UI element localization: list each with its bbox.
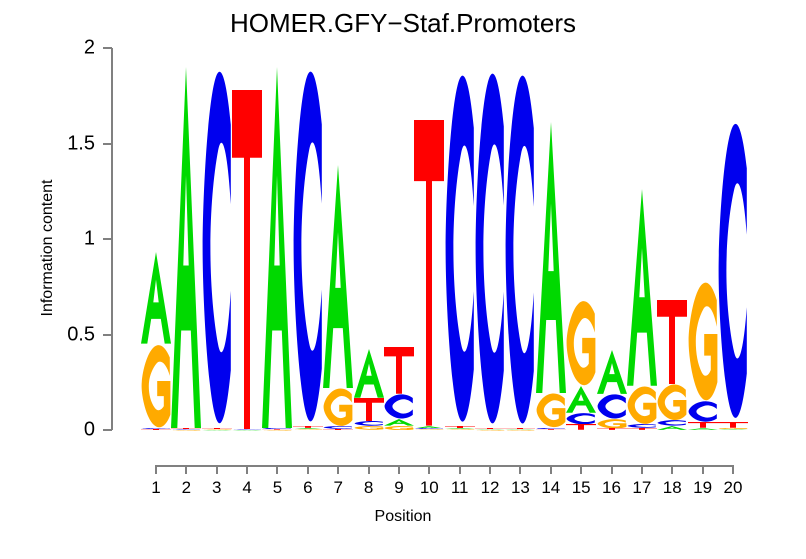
logo-letter-A: [505, 429, 535, 430]
logo-letter-T: [414, 120, 444, 426]
logo-letter-G: [536, 393, 566, 427]
x-tick-mark: [216, 465, 218, 474]
logo-letter-T: [536, 429, 566, 430]
logo-letter-G: [597, 419, 627, 429]
page-title: HOMER.GFY−Staf.Promoters: [0, 8, 806, 39]
logo-column: [414, 48, 444, 430]
y-tick-mark: [103, 429, 112, 431]
x-tick-mark: [428, 465, 430, 474]
logo-letter-T: [475, 428, 505, 429]
logo-letter-C: [505, 71, 535, 428]
y-tick-mark: [103, 238, 112, 240]
logo-letter-A: [597, 350, 627, 394]
y-tick-mark: [103, 334, 112, 336]
logo-letter-G: [627, 386, 657, 424]
logo-column: [475, 48, 505, 430]
logo-letter-A: [384, 419, 414, 426]
logo-letter-G: [566, 300, 596, 386]
x-tick-mark: [337, 465, 339, 474]
logo-letter-A: [688, 428, 718, 430]
logo-letter-C: [354, 421, 384, 426]
logo-letter-T: [323, 429, 353, 430]
logo-letter-A: [141, 252, 171, 344]
y-tick-label: 2: [35, 37, 95, 60]
logo-letter-A: [232, 430, 262, 431]
logo-letter-A: [445, 428, 475, 429]
logo-letter-A: [323, 165, 353, 388]
logo-letter-C: [323, 426, 353, 429]
x-axis-title: Position: [0, 508, 806, 526]
logo-letter-G: [293, 429, 323, 430]
logo-letter-C: [597, 394, 627, 419]
logo-letter-A: [536, 122, 566, 393]
logo-letter-G: [657, 384, 687, 420]
logo-column: [384, 48, 414, 430]
x-tick-mark: [519, 465, 521, 474]
logo-letter-T: [566, 424, 596, 430]
logo-letter-G: [354, 426, 384, 430]
logo-letter-T: [384, 347, 414, 394]
logo-letter-G: [688, 281, 718, 401]
y-tick-mark: [103, 47, 112, 49]
logo-letter-G: [718, 428, 748, 430]
y-axis-title: Information content: [39, 118, 57, 378]
logo-letter-A: [171, 67, 201, 428]
x-tick-mark: [307, 465, 309, 474]
y-tick-mark: [103, 143, 112, 145]
logo-column: [657, 48, 687, 430]
logo-column: [688, 48, 718, 430]
y-tick-label: 0: [35, 419, 95, 442]
logo-letter-A: [414, 426, 444, 428]
logo-letter-C: [202, 67, 232, 428]
logo-letter-C: [688, 401, 718, 422]
logo-letter-C: [718, 120, 748, 422]
x-tick-mark: [185, 465, 187, 474]
logo-column: [597, 48, 627, 430]
logo-column: [718, 48, 748, 430]
logo-letter-C: [414, 428, 444, 429]
logo-column: [354, 48, 384, 430]
x-tick-mark: [276, 465, 278, 474]
logo-letter-G: [141, 344, 171, 428]
x-tick-mark: [398, 465, 400, 474]
logo-letter-C: [232, 429, 262, 430]
logo-letter-T: [354, 398, 384, 422]
logo-letter-C: [262, 428, 292, 429]
logo-letter-A: [354, 349, 384, 398]
logo-stack-area: [0, 0, 806, 559]
logo-letter-A: [718, 429, 748, 430]
x-tick-mark: [368, 465, 370, 474]
x-tick-mark: [246, 465, 248, 474]
logo-column: [323, 48, 353, 430]
logo-letter-G: [384, 426, 414, 430]
logo-column: [171, 48, 201, 430]
sequence-logo-plot: HOMER.GFY−Staf.Promoters 00.511.52 Infor…: [0, 0, 806, 559]
logo-letter-G: [414, 429, 444, 430]
logo-letter-C: [171, 429, 201, 430]
logo-letter-C: [445, 71, 475, 426]
logo-letter-T: [202, 428, 232, 429]
logo-letter-C: [141, 428, 171, 429]
x-tick-mark: [611, 465, 613, 474]
x-tick-mark: [732, 465, 734, 474]
logo-letter-G: [202, 429, 232, 430]
logo-column: [202, 48, 232, 430]
logo-letter-T: [505, 428, 535, 429]
logo-letter-G: [445, 429, 475, 430]
logo-letter-C: [627, 424, 657, 428]
logo-column: [566, 48, 596, 430]
logo-letter-G: [171, 430, 201, 431]
logo-column: [627, 48, 657, 430]
logo-letter-T: [171, 428, 201, 429]
logo-column: [445, 48, 475, 430]
logo-letter-T: [293, 426, 323, 428]
logo-letter-T: [627, 428, 657, 430]
logo-letter-C: [536, 428, 566, 430]
logo-letter-G: [262, 430, 292, 431]
x-tick-label: 20: [713, 478, 753, 498]
logo-letter-T: [262, 429, 292, 430]
logo-letter-C: [293, 67, 323, 426]
logo-letter-G: [475, 430, 505, 431]
x-tick-mark: [580, 465, 582, 474]
logo-column: [536, 48, 566, 430]
x-tick-mark: [550, 465, 552, 474]
logo-letter-C: [657, 420, 687, 426]
logo-letter-G: [505, 430, 535, 431]
logo-letter-T: [657, 300, 687, 384]
logo-letter-A: [657, 426, 687, 430]
logo-letter-A: [262, 67, 292, 428]
x-tick-mark: [459, 465, 461, 474]
x-tick-mark: [489, 465, 491, 474]
logo-letter-T: [141, 429, 171, 430]
logo-letter-T: [232, 90, 262, 429]
x-tick-mark: [641, 465, 643, 474]
logo-letter-A: [202, 430, 232, 431]
x-axis-line: [156, 465, 734, 467]
logo-column: [262, 48, 292, 430]
logo-column: [293, 48, 323, 430]
logo-column: [232, 48, 262, 430]
logo-column: [141, 48, 171, 430]
logo-letter-A: [566, 386, 596, 413]
x-tick-mark: [671, 465, 673, 474]
logo-letter-C: [384, 394, 414, 419]
logo-column: [505, 48, 535, 430]
logo-letter-A: [475, 429, 505, 430]
logo-letter-T: [718, 422, 748, 428]
logo-letter-T: [597, 428, 627, 430]
logo-letter-G: [323, 388, 353, 426]
logo-letter-A: [627, 189, 657, 386]
logo-letter-A: [293, 428, 323, 429]
logo-letter-C: [566, 413, 596, 424]
x-tick-mark: [155, 465, 157, 474]
logo-letter-T: [688, 422, 718, 428]
logo-letter-T: [445, 426, 475, 428]
x-tick-mark: [702, 465, 704, 474]
logo-letter-C: [475, 69, 505, 428]
